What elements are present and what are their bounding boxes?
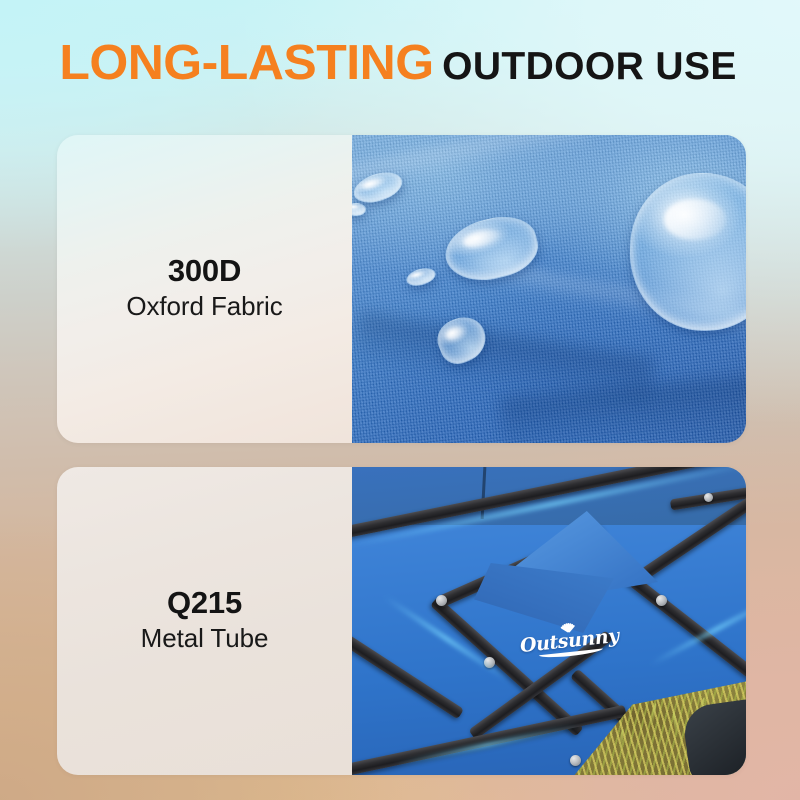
wagon-rivet-lower-joint — [570, 755, 581, 766]
wagon-rivet-right-joint — [656, 595, 667, 606]
feature-card-fabric-subtitle: Oxford Fabric — [126, 291, 282, 322]
page-title-rest: OUTDOOR USE — [442, 47, 737, 86]
feature-card-metal-tube-subtitle: Metal Tube — [141, 623, 269, 654]
wagon-rivet-upper-right — [704, 493, 713, 502]
feature-card-metal-tube: Q215 Metal Tube — [57, 467, 746, 775]
page-title: LONG-LASTINGOUTDOOR USE — [0, 39, 800, 88]
feature-card-fabric-text: 300D Oxford Fabric — [57, 135, 352, 443]
feature-card-metal-tube-title: Q215 — [167, 586, 242, 621]
folding-wagon-frame-photo: Outsunny — [352, 467, 746, 775]
water-droplet-fabric-photo — [352, 135, 746, 443]
page-title-highlight: LONG-LASTING — [59, 39, 433, 88]
feature-card-fabric: 300D Oxford Fabric — [57, 135, 746, 443]
feature-card-fabric-title: 300D — [168, 254, 241, 289]
wagon-rivet-left-joint — [436, 595, 447, 606]
feature-card-metal-tube-text: Q215 Metal Tube — [57, 467, 352, 775]
